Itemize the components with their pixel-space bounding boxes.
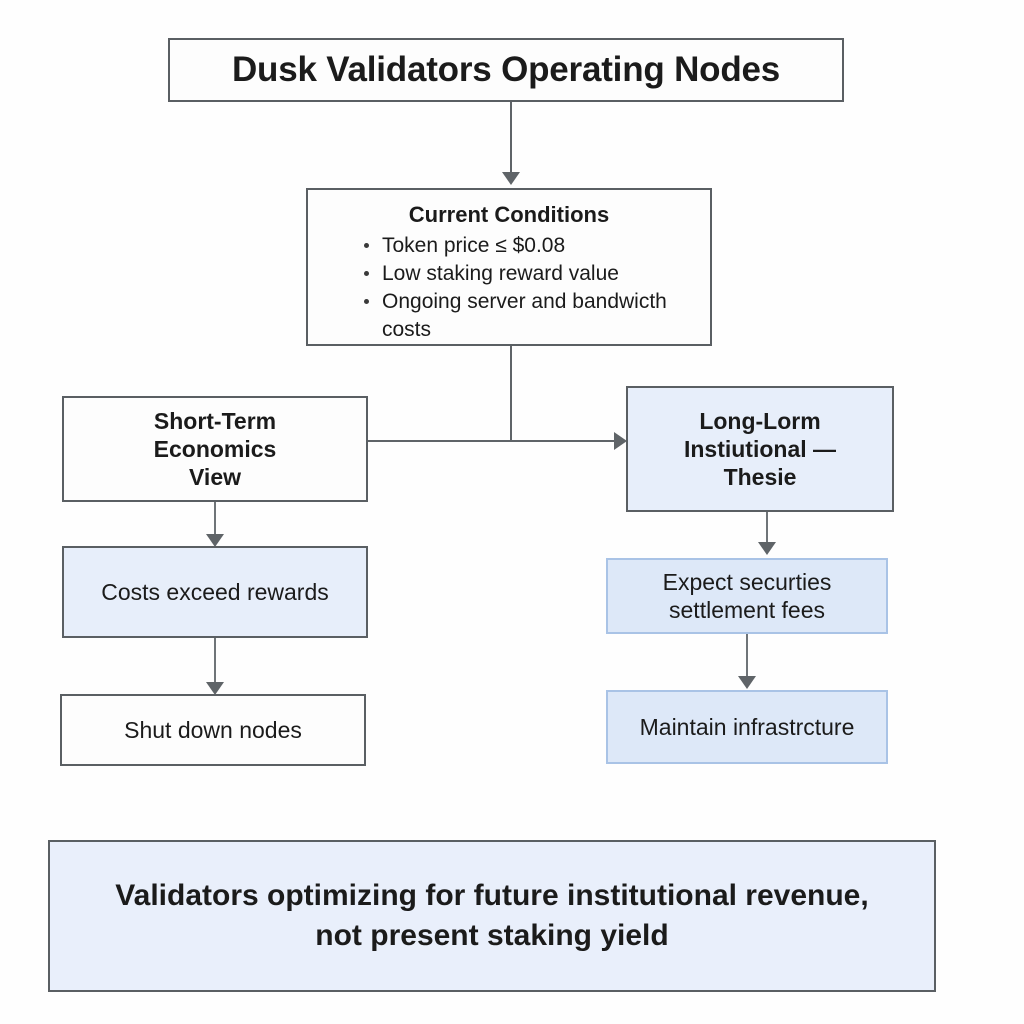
left-step1-box: Costs exceed rewards bbox=[62, 546, 368, 638]
right-branch-label-line2: Instiutional — bbox=[684, 435, 836, 463]
left-branch-label-line1: Short-Term bbox=[154, 407, 276, 435]
left-step2-text: Shut down nodes bbox=[124, 716, 302, 744]
left-branch-box: Short-Term Economics View bbox=[62, 396, 368, 502]
connector-conditions-down bbox=[510, 346, 512, 442]
connector-title-to-conditions bbox=[510, 102, 512, 174]
left-step2-box: Shut down nodes bbox=[60, 694, 366, 766]
list-item: Token price ≤ $0.08 bbox=[360, 232, 710, 260]
title-text: Dusk Validators Operating Nodes bbox=[232, 49, 780, 92]
flowchart-canvas: Dusk Validators Operating Nodes Current … bbox=[0, 0, 1024, 1024]
arrowhead-title-to-conditions bbox=[502, 172, 520, 185]
right-branch-label-line1: Long-Lorm bbox=[699, 407, 820, 435]
right-step1-text: Expect securties settlement fees bbox=[608, 568, 886, 624]
list-item: Ongoing server and bandwicth costs bbox=[360, 288, 710, 344]
arrowhead-right-step2 bbox=[738, 676, 756, 689]
current-conditions-bullet-list: Token price ≤ $0.08 Low staking reward v… bbox=[308, 232, 710, 344]
title-box: Dusk Validators Operating Nodes bbox=[168, 38, 844, 102]
conclusion-text: Validators optimizing for future institu… bbox=[110, 876, 874, 957]
current-conditions-heading: Current Conditions bbox=[409, 202, 609, 229]
right-step2-box: Maintain infrastrcture bbox=[606, 690, 888, 764]
right-branch-label-line3: Thesie bbox=[724, 463, 797, 491]
left-branch-label-line2: Economics bbox=[154, 435, 277, 463]
current-conditions-box: Current Conditions Token price ≤ $0.08 L… bbox=[306, 188, 712, 346]
list-item: Low staking reward value bbox=[360, 260, 710, 288]
arrowhead-right-step1 bbox=[758, 542, 776, 555]
right-step2-text: Maintain infrastrcture bbox=[640, 713, 855, 741]
left-step1-text: Costs exceed rewards bbox=[101, 578, 329, 606]
left-branch-label-line3: View bbox=[189, 463, 241, 491]
conclusion-banner: Validators optimizing for future institu… bbox=[48, 840, 936, 992]
right-step1-box: Expect securties settlement fees bbox=[606, 558, 888, 634]
right-branch-box: Long-Lorm Instiutional — Thesie bbox=[626, 386, 894, 512]
connector-left-to-right-branch bbox=[368, 440, 620, 442]
